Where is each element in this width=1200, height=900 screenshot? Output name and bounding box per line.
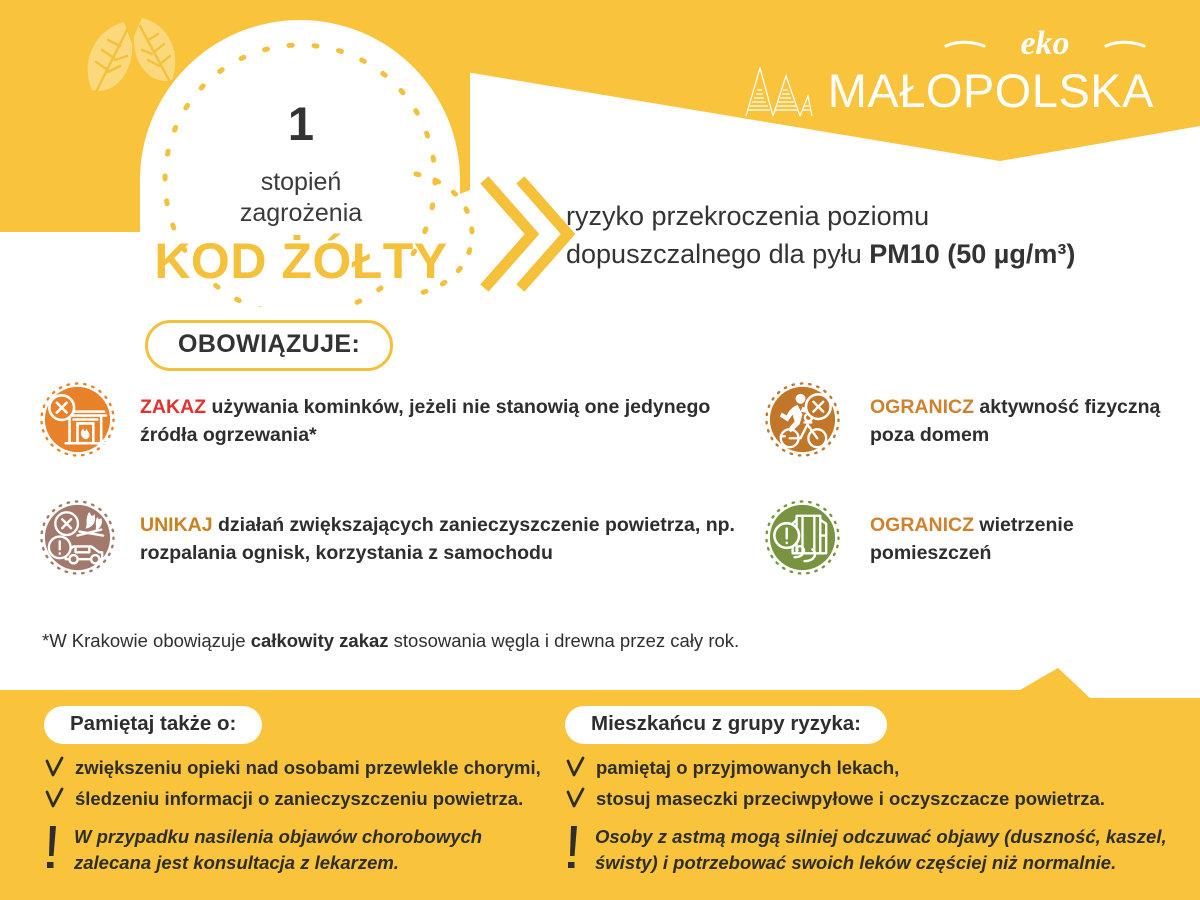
obligation-text-zakaz-kominki: ZAKAZ używania kominków, jeżeli nie stan… [140, 382, 740, 449]
obligation-item-ogranicz-wietrzenie[interactable]: OGRANICZ wietrzenie pomieszczeń [765, 500, 1185, 618]
bottom-band: Pamiętaj także o: zwiększeniu opieki nad… [0, 690, 1200, 900]
fireplace-prohibited-icon [40, 382, 115, 457]
list-item: zwiększeniu opieki nad osobami przewlekl… [44, 756, 564, 780]
obligations-pill: OBOWIĄZUJE: [145, 320, 393, 371]
list-item-label: śledzeniu informacji o zanieczyszczeniu … [75, 787, 523, 811]
check-icon [565, 787, 585, 811]
obligation-keyword: UNIKAJ [140, 514, 213, 536]
list-item: pamiętaj o przyjmowanych lekach, [565, 756, 1190, 780]
obligations-column-right: OGRANICZ aktywność fizyczną poza domem [765, 382, 1185, 618]
open-window-warning-icon [765, 500, 840, 575]
footnote: *W Krakowie obowiązuje całkowity zakaz s… [42, 630, 802, 652]
obligation-body: działań zwiększających zanieczyszczenie … [140, 514, 735, 564]
alert-headline-line2: dopuszczalnego dla pyłu PM10 (50 µg/m³) [566, 235, 1191, 273]
alert-level-number: 1 [136, 100, 466, 147]
bottom-right-note: Osoby z astmą mogą silniej odczuwać obja… [565, 824, 1190, 875]
obligation-keyword: OGRANICZ [870, 396, 974, 418]
list-item: śledzeniu informacji o zanieczyszczeniu … [44, 787, 564, 811]
check-icon [44, 756, 64, 780]
bottom-right-note-line2: świsty) i potrzebować swoich leków częśc… [595, 850, 1167, 876]
obligation-item-unikaj[interactable]: UNIKAJ działań zwiększających zanieczysz… [40, 500, 740, 618]
runner-cyclist-prohibited-icon [765, 382, 840, 457]
chevron-arrow-icon [410, 168, 580, 300]
alert-headline: ryzyko przekroczenia poziomu dopuszczaln… [566, 197, 1191, 274]
mountain-m-icon [742, 62, 814, 118]
list-item-label: zwiększeniu opieki nad osobami przewlekl… [75, 756, 541, 780]
alert-headline-pm10: PM10 (50 µg/m³) [869, 239, 1075, 269]
bottom-right-note-line1: Osoby z astmą mogą silniej odczuwać obja… [595, 824, 1167, 850]
list-item-label: pamiętaj o przyjmowanych lekach, [596, 756, 899, 780]
obligation-text-ogranicz-aktywnosc: OGRANICZ aktywność fizyczną poza domem [870, 382, 1185, 449]
obligation-keyword: OGRANICZ [870, 514, 974, 536]
obligation-item-zakaz-kominki[interactable]: ZAKAZ używania kominków, jeżeli nie stan… [40, 382, 740, 500]
bottom-left-note-text: W przypadku nasilenia objawów chorobowyc… [74, 824, 482, 875]
bottom-right-note-text: Osoby z astmą mogą silniej odczuwać obja… [595, 824, 1167, 875]
list-item-label: stosuj maseczki przeciwpyłowe i oczyszcz… [596, 787, 1105, 811]
bottom-right-checklist: pamiętaj o przyjmowanych lekach, stosuj … [565, 756, 1190, 811]
bonfire-car-prohibited-icon [40, 500, 115, 575]
check-icon [565, 756, 585, 780]
alert-headline-line2-plain: dopuszczalnego dla pyłu [566, 239, 869, 269]
bottom-right-pill: Mieszkańcu z grupy ryzyka: [565, 706, 887, 744]
footnote-before: *W Krakowie obowiązuje [42, 630, 251, 651]
bottom-column-left: Pamiętaj także o: zwiększeniu opieki nad… [44, 690, 564, 875]
bottom-left-pill: Pamiętaj także o: [44, 706, 262, 744]
obligation-text-unikaj: UNIKAJ działań zwiększających zanieczysz… [140, 500, 740, 567]
obligation-text-ogranicz-wietrzenie: OGRANICZ wietrzenie pomieszczeń [870, 500, 1185, 567]
exclamation-icon [44, 824, 60, 870]
bottom-left-note-line2: zalecana jest konsultacja z lekarzem. [74, 850, 482, 876]
bottom-left-note-line1: W przypadku nasilenia objawów chorobowyc… [74, 824, 482, 850]
bottom-column-right: Mieszkańcu z grupy ryzyka: pamiętaj o pr… [565, 690, 1190, 875]
eko-script-icon: eko [940, 22, 1150, 66]
eko-label: eko [1020, 25, 1069, 62]
footnote-after: stosowania węgla i drewna przez cały rok… [389, 630, 740, 651]
logo-malopolska[interactable]: eko MAŁOPOLSKA [846, 22, 1156, 118]
check-icon [44, 787, 64, 811]
obligation-keyword: ZAKAZ [140, 396, 206, 418]
obligation-item-ogranicz-aktywnosc[interactable]: OGRANICZ aktywność fizyczną poza domem [765, 382, 1185, 500]
logo-wordmark: MAŁOPOLSKA [828, 67, 1154, 114]
infographic-root: eko MAŁOPOLSKA 1 [0, 0, 1200, 900]
footnote-bold: całkowity zakaz [251, 630, 389, 651]
bottom-left-note: W przypadku nasilenia objawów chorobowyc… [44, 824, 564, 875]
list-item: stosuj maseczki przeciwpyłowe i oczyszcz… [565, 787, 1190, 811]
bottom-left-checklist: zwiększeniu opieki nad osobami przewlekl… [44, 756, 564, 811]
alert-headline-line1: ryzyko przekroczenia poziomu [566, 197, 1191, 235]
obligations-column-left: ZAKAZ używania kominków, jeżeli nie stan… [40, 382, 740, 618]
obligation-body: używania kominków, jeżeli nie stanowią o… [140, 396, 710, 446]
exclamation-icon [565, 824, 581, 870]
